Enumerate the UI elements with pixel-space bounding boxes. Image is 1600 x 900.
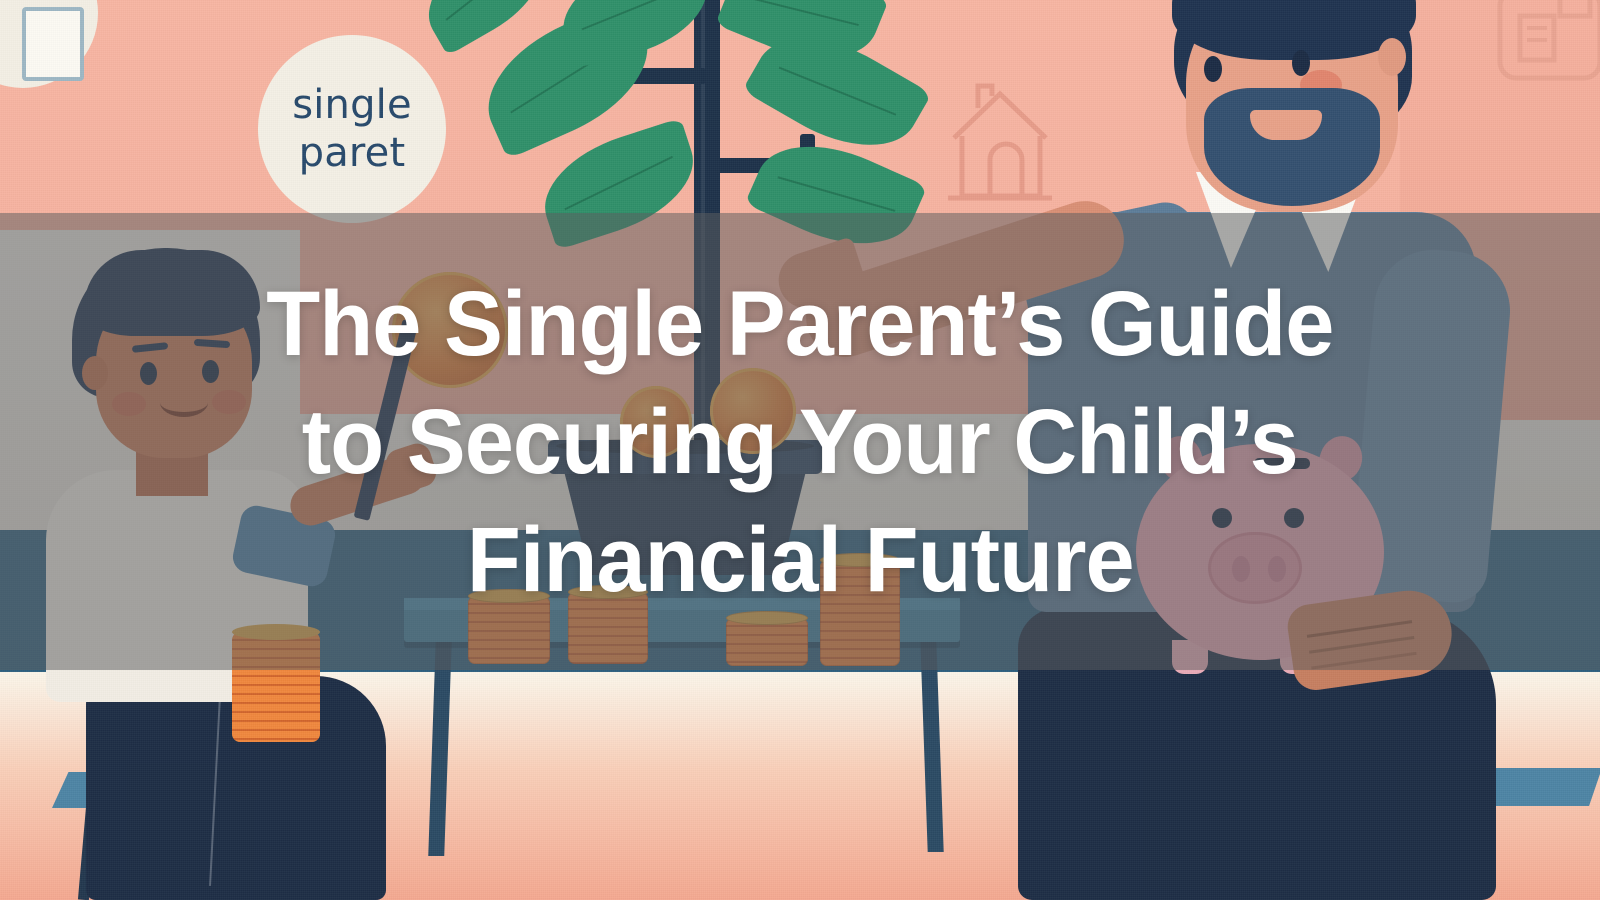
title-line-3: Financial Future (467, 501, 1134, 619)
badge-line-1: single (292, 81, 412, 129)
parent-mouth (1250, 110, 1322, 140)
single-parent-badge: single paret (258, 35, 446, 223)
parent-ear (1378, 38, 1406, 76)
parent-beard (1204, 88, 1380, 206)
title-line-2: to Securing Your Child’s (302, 383, 1298, 501)
badge-line-2: paret (299, 129, 406, 177)
title-line-1: The Single Parent’s Guide (266, 265, 1333, 383)
document-badge (0, 0, 98, 88)
house-icon (944, 78, 1056, 208)
card-icon (1494, 0, 1600, 98)
hero-title: The Single Parent’s Guide to Securing Yo… (0, 213, 1600, 670)
parent-eye (1204, 56, 1222, 82)
document-icon (22, 7, 84, 81)
hero-banner: single paret (0, 0, 1600, 900)
